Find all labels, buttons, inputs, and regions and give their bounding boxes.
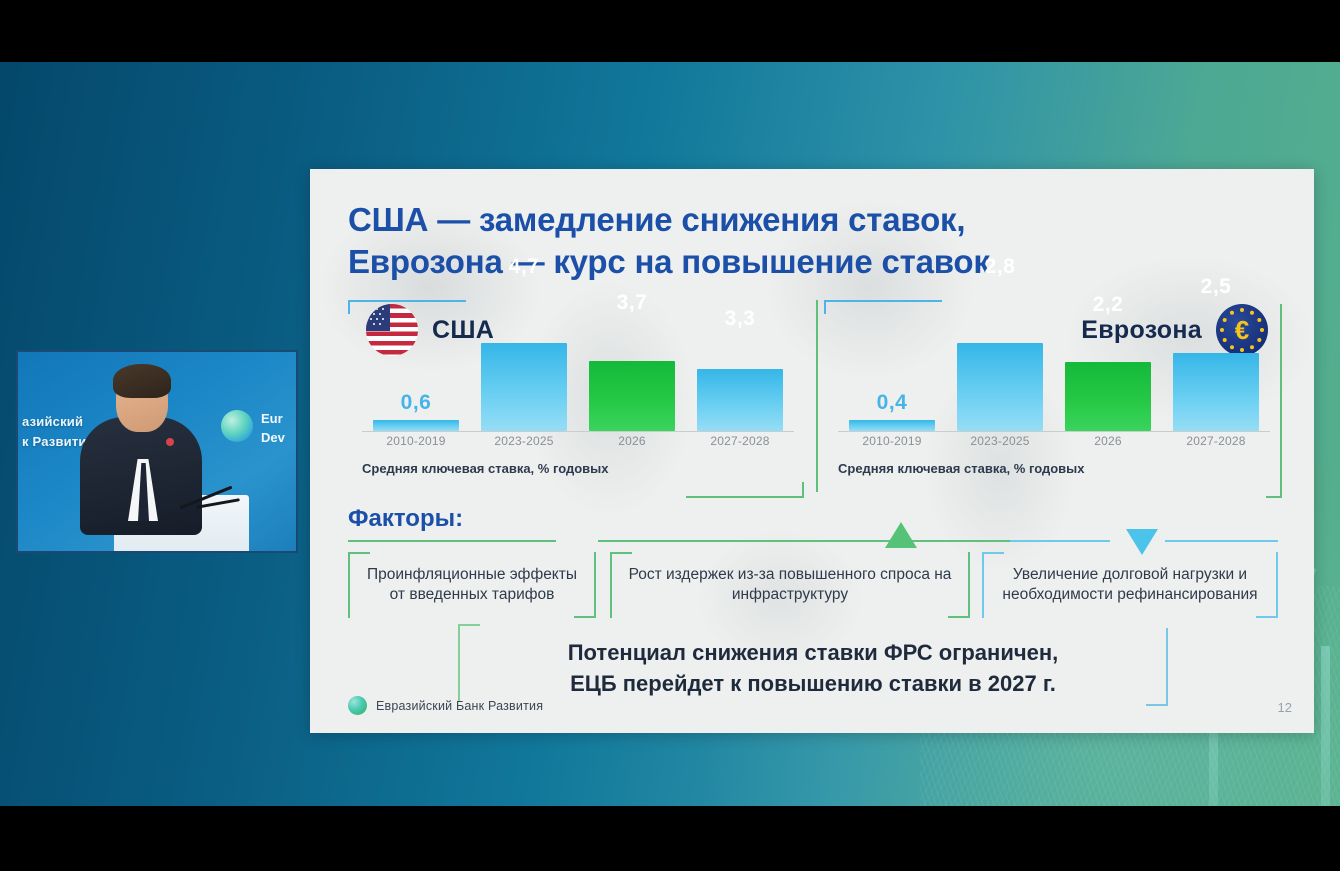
- backdrop-brand-en-line2: Dev: [261, 429, 285, 448]
- factor-text: Увеличение долговой нагрузки и необходим…: [982, 552, 1278, 618]
- factors-heading: Факторы:: [348, 505, 463, 533]
- conclusion-line1: Потенциал снижения ставки ФРС ограничен,: [568, 637, 1059, 668]
- bar: [373, 420, 459, 431]
- bar-group: 2,2: [1054, 362, 1162, 431]
- x-tick-label: 2027-2028: [686, 434, 794, 452]
- chart-caption-eurozone: Средняя ключевая ставка, % годовых: [838, 461, 1084, 476]
- bar: [697, 369, 783, 431]
- page-title: США — замедление снижения ставок, Еврозо…: [348, 199, 1248, 283]
- bar-value-label: 3,3: [686, 307, 794, 331]
- bar-group: 0,6: [362, 420, 470, 431]
- presentation-slide: США — замедление снижения ставок, Еврозо…: [310, 169, 1314, 733]
- chart-axis-usa: [362, 431, 794, 432]
- chart-axis-eurozone: [838, 431, 1270, 432]
- page-number: 12: [1278, 700, 1292, 715]
- factor-card-3: Увеличение долговой нагрузки и необходим…: [982, 552, 1278, 618]
- factors-rule-left: [348, 540, 556, 542]
- backdrop-brand-en-line1: Eur: [261, 410, 285, 429]
- x-tick-label: 2023-2025: [470, 434, 578, 452]
- factors-rule-right-b: [1165, 540, 1278, 542]
- triangle-up-icon: [885, 522, 917, 548]
- bar-chart-usa: 0,6 4,7 3,7 3,3: [362, 330, 794, 454]
- factor-text: Рост издержек из-за повышенного спроса н…: [610, 552, 970, 618]
- factor-text: Проинфляционные эффекты от введенных тар…: [348, 552, 596, 618]
- bar-group: 4,7: [470, 343, 578, 431]
- background-pillar-right: [1321, 646, 1330, 806]
- speaker-video-inset[interactable]: азийский к Развития Eur Dev: [16, 350, 298, 553]
- bar-value-label: 0,4: [838, 391, 946, 415]
- chart-caption-usa: Средняя ключевая ставка, % годовых: [362, 461, 608, 476]
- bar-group: 2,5: [1162, 353, 1270, 431]
- bar-group: 3,7: [578, 361, 686, 431]
- speaker-hair: [113, 364, 171, 398]
- chart-bars-usa: 0,6 4,7 3,7 3,3: [362, 331, 794, 431]
- x-tick-label: 2010-2019: [362, 434, 470, 452]
- video-frame: азийский к Развития Eur Dev США — замедл…: [0, 0, 1340, 871]
- factor-card-1: Проинфляционные эффекты от введенных тар…: [348, 552, 596, 618]
- x-tick-label: 2023-2025: [946, 434, 1054, 452]
- backdrop-logo-icon: [221, 410, 253, 442]
- panel-frame-corner-bottomright: [686, 482, 804, 498]
- chart-ticks-eurozone: 2010-2019 2023-2025 2026 2027-2028: [838, 434, 1270, 452]
- bar-value-label: 0,6: [362, 391, 470, 415]
- bar-group: 3,3: [686, 369, 794, 431]
- page-title-line2: Еврозона — курс на повышение ставок: [348, 241, 1248, 283]
- bar-value-label: 3,7: [578, 291, 686, 315]
- bar: [1065, 362, 1151, 431]
- chart-bars-eurozone: 0,4 2,8 2,2 2,5: [838, 331, 1270, 431]
- edb-logo-icon: [348, 696, 367, 715]
- backdrop-brand-line1: азийский: [22, 412, 94, 432]
- chart-panel-usa: США 0,6 4,7 3,7: [348, 300, 804, 480]
- x-tick-label: 2010-2019: [838, 434, 946, 452]
- footer-brand-name: Евразийский Банк Развития: [376, 699, 543, 713]
- backdrop-brand-en: Eur Dev: [261, 410, 285, 448]
- bar-group: 0,4: [838, 420, 946, 431]
- chart-ticks-usa: 2010-2019 2023-2025 2026 2027-2028: [362, 434, 794, 452]
- bar: [849, 420, 935, 431]
- panel-frame-corner-topleft: [824, 300, 942, 314]
- bar-group: 2,8: [946, 343, 1054, 431]
- us-flag-stars: [368, 306, 388, 328]
- letterbox-bottom: [0, 806, 1340, 871]
- x-tick-label: 2026: [1054, 434, 1162, 452]
- bar-chart-eurozone: 0,4 2,8 2,2 2,5: [838, 330, 1270, 454]
- panel-frame-edge-left: [816, 300, 818, 492]
- letterbox-top: [0, 0, 1340, 62]
- conclusion-line2: ЕЦБ перейдет к повышению ставки в 2027 г…: [570, 668, 1056, 699]
- bar: [957, 343, 1043, 431]
- x-tick-label: 2026: [578, 434, 686, 452]
- bar: [1173, 353, 1259, 431]
- x-tick-label: 2027-2028: [1162, 434, 1270, 452]
- chart-panel-eurozone: Еврозона: [824, 300, 1280, 480]
- conclusion-text: Потенциал снижения ставки ФРС ограничен,…: [458, 624, 1168, 712]
- slide-footer-logo: Евразийский Банк Развития: [348, 696, 543, 715]
- bar: [589, 361, 675, 431]
- page-title-line1: США — замедление снижения ставок,: [348, 199, 1248, 241]
- factors-rule-middle: [598, 540, 1012, 542]
- lapel-pin-icon: [166, 438, 174, 446]
- factors-rule-right-a: [1010, 540, 1110, 542]
- bar: [481, 343, 567, 431]
- factor-card-2: Рост издержек из-за повышенного спроса н…: [610, 552, 970, 618]
- conclusion-callout: Потенциал снижения ставки ФРС ограничен,…: [458, 624, 1168, 712]
